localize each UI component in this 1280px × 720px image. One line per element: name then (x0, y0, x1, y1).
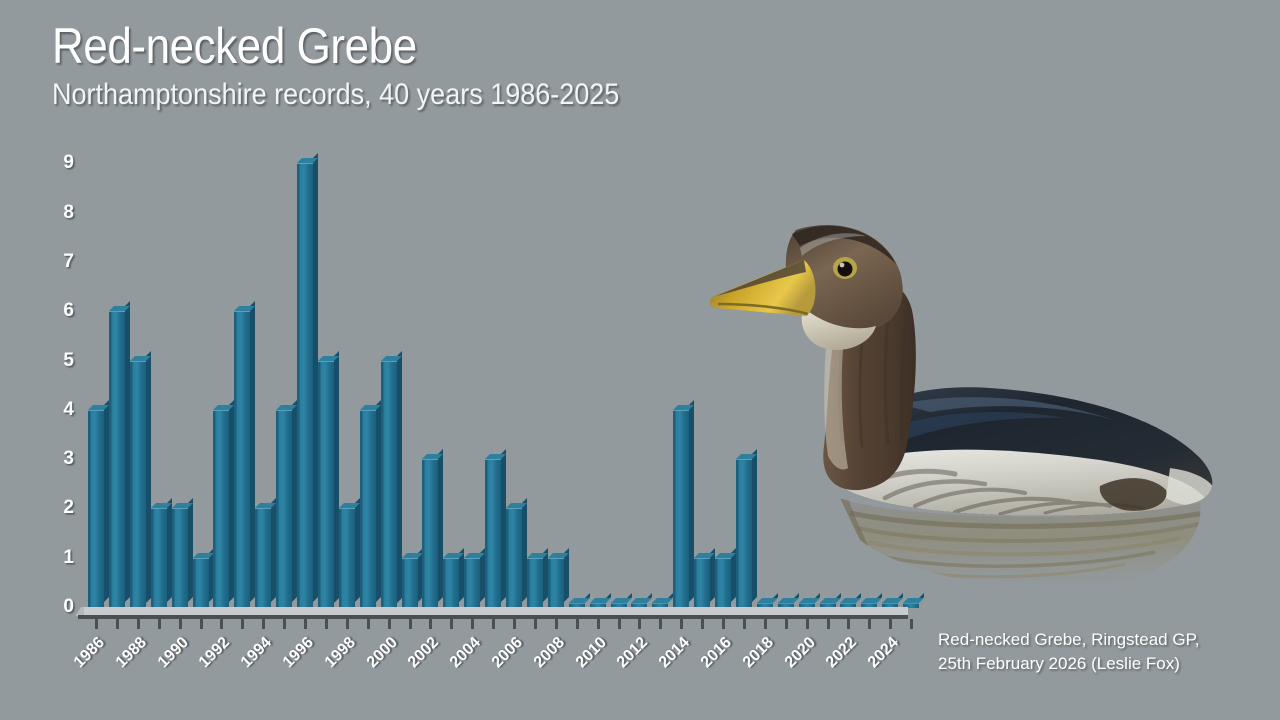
bar-1993[interactable] (234, 311, 250, 607)
x-axis-tick-1996 (304, 619, 307, 629)
bar-face (234, 311, 250, 608)
y-axis-tick-9: 9 (44, 152, 74, 174)
bar-face (172, 508, 188, 608)
bar-2000[interactable] (381, 361, 397, 608)
bar-1989[interactable] (151, 508, 167, 607)
caption-line-1: Red-necked Grebe, Ringstead GP, (938, 628, 1258, 652)
x-axis-tick-1998 (346, 619, 349, 629)
bar-face (402, 558, 418, 608)
bar-face (151, 508, 167, 608)
photo-caption: Red-necked Grebe, Ringstead GP, 25th Feb… (938, 628, 1258, 676)
bar-face (109, 311, 125, 608)
bar-face (485, 459, 501, 608)
bar-face (360, 410, 376, 608)
bar-face (506, 508, 522, 608)
y-axis-tick-7: 7 (44, 251, 74, 273)
bar-1991[interactable] (193, 558, 209, 607)
x-axis-tick-1997 (325, 619, 328, 629)
x-axis-tick-1994 (262, 619, 265, 629)
x-axis-tick-2005 (492, 619, 495, 629)
y-axis-tick-8: 8 (44, 202, 74, 224)
grebe-illustration (700, 168, 1260, 598)
x-axis-tick-2017 (743, 619, 746, 629)
red-necked-grebe-photo (700, 168, 1260, 598)
bar-face (193, 558, 209, 608)
bar-face (339, 508, 355, 608)
grebe-eye (833, 257, 857, 279)
x-axis-tick-2021 (827, 619, 830, 629)
x-axis-tick-2000 (388, 619, 391, 629)
bar-1994[interactable] (255, 508, 271, 607)
bar-face (443, 558, 459, 608)
x-axis-tick-2016 (722, 619, 725, 629)
y-axis-tick-1: 1 (44, 547, 74, 569)
bar-face (276, 410, 292, 608)
bar-face (130, 361, 146, 609)
x-axis-tick-2003 (450, 619, 453, 629)
x-axis-tick-2001 (409, 619, 412, 629)
bar-1990[interactable] (172, 508, 188, 607)
x-axis-tick-1993 (241, 619, 244, 629)
x-axis-tick-2014 (680, 619, 683, 629)
x-axis-tick-2012 (638, 619, 641, 629)
bar-face (464, 558, 480, 608)
bar-face (318, 361, 334, 609)
bar-1995[interactable] (276, 410, 292, 607)
y-axis-tick-3: 3 (44, 448, 74, 470)
bar-1987[interactable] (109, 311, 125, 607)
bar-1988[interactable] (130, 361, 146, 608)
bar-2003[interactable] (443, 558, 459, 607)
x-axis-tick-1992 (220, 619, 223, 629)
y-axis-tick-4: 4 (44, 399, 74, 421)
bar-2004[interactable] (464, 558, 480, 607)
x-axis-tick-2025 (910, 619, 913, 629)
bar-2007[interactable] (527, 558, 543, 607)
bar-2008[interactable] (548, 558, 564, 607)
bar-2001[interactable] (402, 558, 418, 607)
bar-face (548, 558, 564, 608)
x-axis-tick-2010 (597, 619, 600, 629)
x-axis-tick-2024 (889, 619, 892, 629)
x-axis-tick-2011 (618, 619, 621, 629)
bar-face (255, 508, 271, 608)
bar-face (381, 361, 397, 609)
bar-1999[interactable] (360, 410, 376, 607)
y-axis-tick-5: 5 (44, 350, 74, 372)
x-axis-tick-2002 (429, 619, 432, 629)
x-axis-tick-1989 (158, 619, 161, 629)
x-axis-tick-2015 (701, 619, 704, 629)
bar-1998[interactable] (339, 508, 355, 607)
x-axis-tick-2023 (868, 619, 871, 629)
x-axis-tick-2008 (555, 619, 558, 629)
x-axis-tick-2013 (659, 619, 662, 629)
bar-2006[interactable] (506, 508, 522, 607)
bar-face (673, 410, 689, 608)
x-axis-tick-2019 (785, 619, 788, 629)
x-axis-tick-2004 (471, 619, 474, 629)
grebe-bill (710, 260, 816, 316)
x-axis-tick-1995 (283, 619, 286, 629)
y-axis-tick-6: 6 (44, 300, 74, 322)
x-axis-tick-2007 (534, 619, 537, 629)
x-axis-tick-1987 (116, 619, 119, 629)
x-axis-tick-2009 (576, 619, 579, 629)
bar-1996[interactable] (297, 163, 313, 607)
bar-2002[interactable] (422, 459, 438, 607)
bar-2014[interactable] (673, 410, 689, 607)
caption-line-2: 25th February 2026 (Leslie Fox) (938, 652, 1258, 676)
x-axis-tick-1986 (95, 619, 98, 629)
x-axis-tick-2020 (806, 619, 809, 629)
bar-1986[interactable] (88, 410, 104, 607)
x-axis-tick-2006 (513, 619, 516, 629)
bar-face (213, 410, 229, 608)
bar-face (527, 558, 543, 608)
bar-face (297, 163, 313, 608)
x-axis-tick-1991 (200, 619, 203, 629)
y-axis-tick-0: 0 (44, 596, 74, 618)
x-axis-tick-1999 (367, 619, 370, 629)
bar-face (422, 459, 438, 608)
x-axis-tick-2018 (764, 619, 767, 629)
x-axis-tick-1990 (179, 619, 182, 629)
x-axis-tick-2022 (847, 619, 850, 629)
bar-1997[interactable] (318, 361, 334, 608)
y-axis-tick-2: 2 (44, 497, 74, 519)
bar-1992[interactable] (213, 410, 229, 607)
bar-2005[interactable] (485, 459, 501, 607)
bar-face (88, 410, 104, 608)
x-axis-tick-1988 (137, 619, 140, 629)
